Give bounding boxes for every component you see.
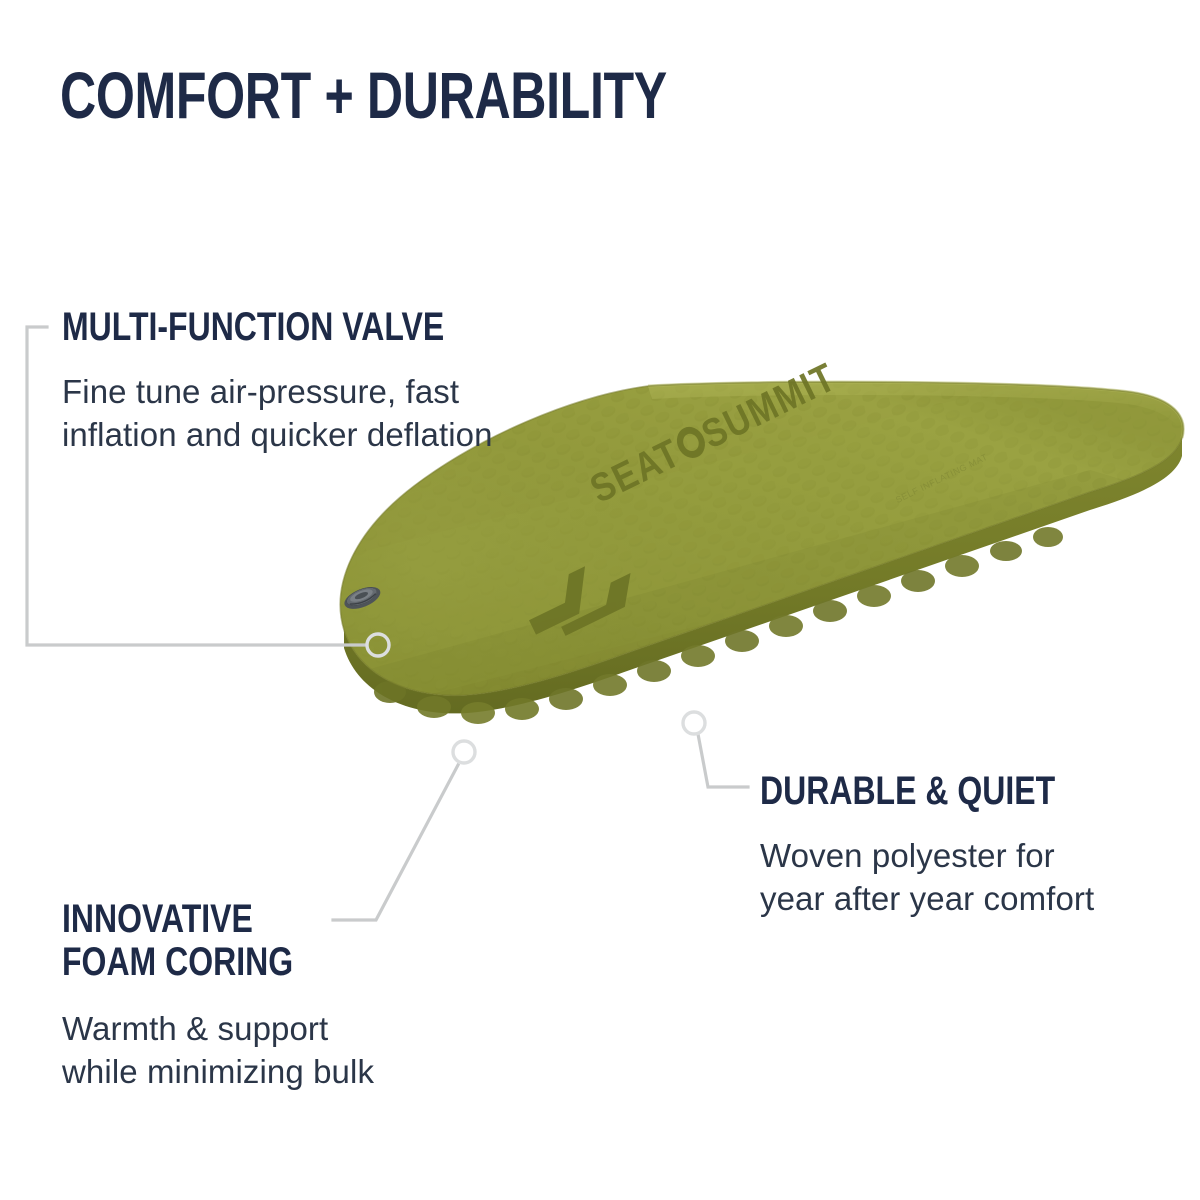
callout-body-valve-line-1: Fine tune air-pressure, fast	[62, 371, 540, 414]
callout-heading-foam-line-1: INNOVATIVE	[62, 898, 312, 941]
infographic-canvas: SEATSUMMIT SELF INFLATING MAT COMFORT + …	[0, 0, 1200, 1200]
callout-multi-function-valve: MULTI-FUNCTION VALVE Fine tune air-press…	[62, 306, 540, 457]
callout-heading-durable: DURABLE & QUIET	[760, 770, 1055, 813]
callout-body-valve-line-2: inflation and quicker deflation	[62, 414, 540, 457]
callout-durable-and-quiet: DURABLE & QUIET Woven polyester for year…	[760, 770, 1129, 921]
callout-heading-valve: MULTI-FUNCTION VALVE	[62, 306, 444, 349]
callout-body-durable-line-1: Woven polyester for	[760, 835, 1129, 878]
callout-body-durable-line-2: year after year comfort	[760, 878, 1129, 921]
callout-body-foam-line-2: while minimizing bulk	[62, 1051, 374, 1094]
callout-innovative-foam-coring: INNOVATIVE FOAM CORING Warmth & support …	[62, 898, 374, 1094]
page-title: COMFORT + DURABILITY	[60, 62, 667, 128]
callout-heading-foam-line-2: FOAM CORING	[62, 941, 312, 984]
callout-body-foam-line-1: Warmth & support	[62, 1008, 374, 1051]
